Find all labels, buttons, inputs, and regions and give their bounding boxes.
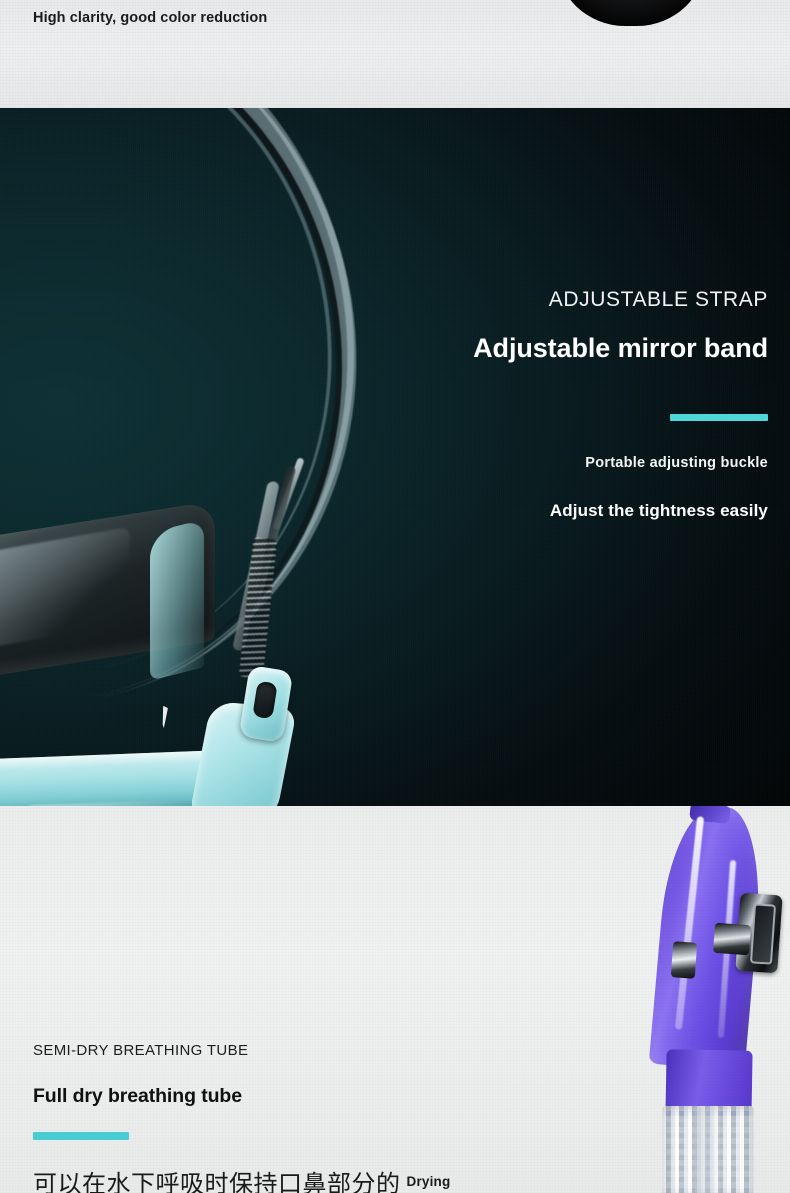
bottom-copy-block: SEMI-DRY BREATHING TUBE Full dry breathi… [33, 1042, 553, 1140]
hero-eyebrow: ADJUSTABLE STRAP [348, 288, 768, 311]
bottom-headline: Full dry breathing tube [33, 1085, 553, 1108]
mask-lens-highlight-mark [161, 706, 168, 728]
top-caption-text: High clarity, good color reduction [33, 10, 267, 26]
hero-dark-panel: ADJUSTABLE STRAP Adjustable mirror band … [0, 108, 790, 806]
mask-peek-image [556, 0, 706, 26]
snorkel-hose-core-shadow [694, 1108, 720, 1193]
bottom-accent-rule [33, 1132, 129, 1140]
bottom-chinese-caption-text: 可以在水下呼吸时保持口鼻部分的 [33, 1170, 401, 1193]
hero-subtitle-one: Portable adjusting buckle [348, 455, 768, 471]
snorkel-clip-band [713, 923, 751, 955]
hero-headline: Adjustable mirror band [348, 333, 768, 364]
snorkel-clip-window [750, 903, 776, 964]
bottom-chinese-caption-suffix: Drying [407, 1174, 451, 1189]
mask-lens-edge [150, 519, 204, 680]
hero-subtitle-two: Adjust the tightness easily [348, 501, 768, 521]
top-caption-band: High clarity, good color reduction [0, 0, 790, 108]
bottom-chinese-caption: 可以在水下呼吸时保持口鼻部分的Drying [33, 1164, 450, 1193]
hero-accent-rule [670, 414, 768, 421]
hero-copy-block: ADJUSTABLE STRAP Adjustable mirror band … [348, 288, 768, 521]
bottom-light-panel: SEMI-DRY BREATHING TUBE Full dry breathi… [0, 806, 790, 1193]
bottom-eyebrow: SEMI-DRY BREATHING TUBE [33, 1042, 553, 1059]
snorkel-retaining-ring [671, 941, 697, 979]
product-detail-page: High clarity, good color reduction ADJUS… [0, 0, 790, 1193]
